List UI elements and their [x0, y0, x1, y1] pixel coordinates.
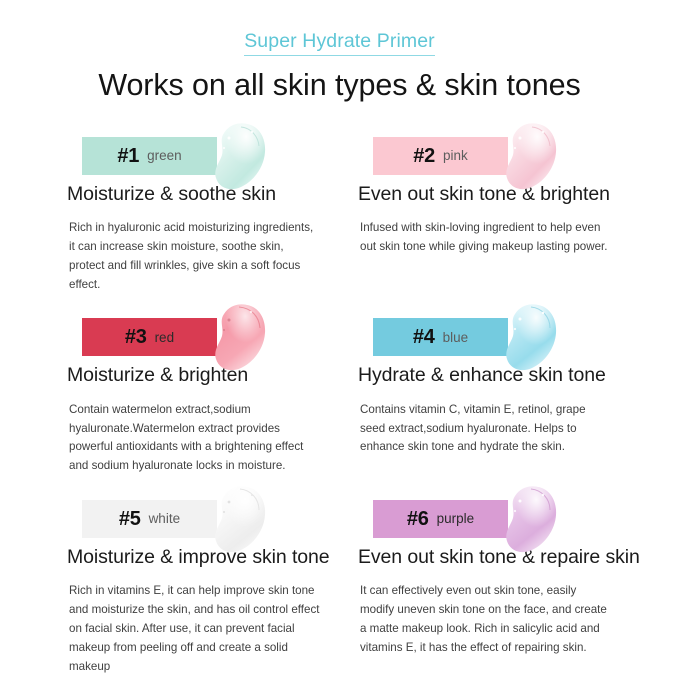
- badge-row-6: #6 purple: [353, 484, 638, 546]
- shade-name-3: red: [155, 331, 175, 345]
- shade-card-4: #4 blue: [353, 302, 638, 476]
- shade-body-6: It can effectively even out skin tone, e…: [360, 582, 612, 657]
- shade-name-6: purple: [437, 512, 475, 526]
- shade-body-3: Contain watermelon extract,sodium hyalur…: [69, 401, 321, 476]
- shade-name-2: pink: [443, 149, 468, 163]
- badge-row-1: #1 green: [62, 121, 347, 183]
- shade-badge-6[interactable]: #6 purple: [373, 500, 508, 538]
- shade-heading-6: Even out skin tone & repaire skin: [358, 546, 638, 569]
- badge-row-5: #5 white: [62, 484, 347, 546]
- badge-row-3: #3 red: [62, 302, 347, 364]
- shade-body-5: Rich in vitamins E, it can help improve …: [69, 582, 321, 676]
- shade-body-4: Contains vitamin C, vitamin E, retinol, …: [360, 401, 612, 457]
- shade-heading-5: Moisturize & improve skin tone: [67, 546, 347, 569]
- shade-card-3: #3 red: [62, 302, 347, 476]
- shade-badge-1[interactable]: #1 green: [82, 137, 217, 175]
- shade-number-1: #1: [117, 146, 139, 166]
- shade-badge-5[interactable]: #5 white: [82, 500, 217, 538]
- shade-heading-3: Moisturize & brighten: [67, 364, 347, 387]
- shade-number-4: #4: [413, 327, 435, 347]
- shade-number-3: #3: [125, 327, 147, 347]
- shade-heading-2: Even out skin tone & brighten: [358, 183, 638, 206]
- shade-card-2: #2 pink: [353, 121, 638, 295]
- badge-row-4: #4 blue: [353, 302, 638, 364]
- shade-number-2: #2: [413, 146, 435, 166]
- shade-badge-4[interactable]: #4 blue: [373, 318, 508, 356]
- shade-card-6: #6 purple: [353, 484, 638, 676]
- shade-name-5: white: [149, 512, 181, 526]
- shade-card-5: #5 white: [62, 484, 347, 676]
- shade-number-5: #5: [119, 509, 141, 529]
- page-title: Super Hydrate Primer: [244, 30, 435, 56]
- shade-heading-1: Moisturize & soothe skin: [67, 183, 347, 206]
- shade-badge-3[interactable]: #3 red: [82, 318, 217, 356]
- shade-body-1: Rich in hyaluronic acid moisturizing ing…: [69, 219, 321, 294]
- header: Super Hydrate Primer Works on all skin t…: [0, 0, 679, 103]
- badge-row-2: #2 pink: [353, 121, 638, 183]
- shade-body-2: Infused with skin-loving ingredient to h…: [360, 219, 612, 257]
- shade-name-1: green: [147, 149, 182, 163]
- shade-number-6: #6: [407, 509, 429, 529]
- shade-name-4: blue: [443, 331, 469, 345]
- main-heading: Works on all skin types & skin tones: [0, 69, 679, 103]
- shade-card-grid: #1 green: [0, 121, 679, 676]
- product-feature-infographic: Super Hydrate Primer Works on all skin t…: [0, 0, 679, 679]
- shade-badge-2[interactable]: #2 pink: [373, 137, 508, 175]
- shade-heading-4: Hydrate & enhance skin tone: [358, 364, 638, 387]
- shade-card-1: #1 green: [62, 121, 347, 295]
